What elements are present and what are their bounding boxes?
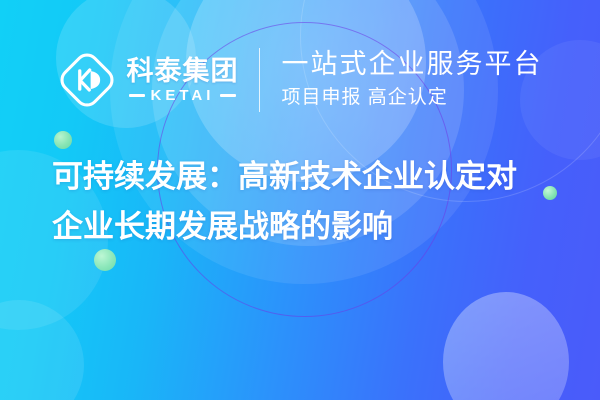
background-circle-bottomright [443, 292, 569, 400]
headline-block: 可持续发展：高新技术企业认定对 企业长期发展战略的影响 [0, 152, 600, 252]
brand-wordmark: 科泰集团 KETAI [127, 57, 239, 103]
accent-dot-upper-left [54, 131, 72, 149]
promo-banner: 科泰集团 KETAI 一站式企业服务平台 项目申报 高企认定 可持续发展：高新技… [0, 0, 600, 400]
brand-name-en: KETAI [151, 88, 215, 103]
brand-name-en-row: KETAI [129, 88, 237, 103]
banner-header: 科泰集团 KETAI 一站式企业服务平台 项目申报 高企认定 [0, 40, 600, 120]
ketai-diamond-monogram-icon [58, 51, 116, 109]
tagline-primary: 一站式企业服务平台 [282, 49, 543, 81]
brand-name-cn: 科泰集团 [127, 57, 239, 85]
tagline-block: 一站式企业服务平台 项目申报 高企认定 [282, 49, 543, 111]
background-circle-left-bottom [0, 300, 84, 400]
brand-dash-right [220, 94, 236, 97]
tagline-secondary: 项目申报 高企认定 [282, 85, 543, 111]
headline-line-2: 企业长期发展战略的影响 [52, 202, 548, 252]
headline-line-1: 可持续发展：高新技术企业认定对 [52, 152, 548, 202]
header-divider [259, 48, 260, 112]
brand-dash-left [129, 94, 145, 97]
brand-logo: 科泰集团 KETAI [58, 51, 239, 109]
